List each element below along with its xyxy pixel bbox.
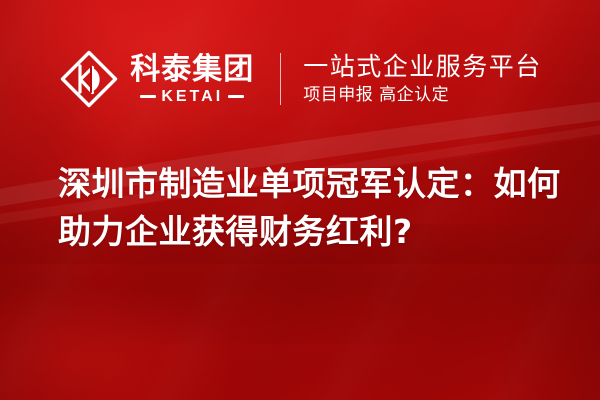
brand-wordmark: 科泰集团 KETAI — [130, 54, 254, 105]
brand-name-cn: 科泰集团 — [130, 54, 254, 86]
tagline-primary: 一站式企业服务平台 — [303, 52, 542, 81]
page-title-line-1: 深圳市制造业单项冠军认定：如何 — [58, 160, 558, 208]
page-title-line-2: 助力企业获得财务红利? — [58, 208, 558, 256]
dash-icon — [140, 95, 156, 98]
page-title: 深圳市制造业单项冠军认定：如何 助力企业获得财务红利? — [58, 160, 558, 256]
banner-header: 科泰集团 KETAI 一站式企业服务平台 项目申报 高企认定 — [0, 38, 600, 120]
brand-logo[interactable]: 科泰集团 KETAI — [58, 48, 254, 110]
brand-name-en-row: KETAI — [130, 88, 254, 105]
dash-icon — [228, 95, 244, 98]
tagline-secondary: 项目申报 高企认定 — [303, 84, 542, 106]
brand-tagline: 一站式企业服务平台 项目申报 高企认定 — [303, 52, 542, 106]
brand-name-en: KETAI — [161, 88, 223, 105]
promo-banner: 科泰集团 KETAI 一站式企业服务平台 项目申报 高企认定 深圳市制造业单项冠… — [0, 0, 600, 400]
ketai-diamond-kd-logo-icon — [58, 48, 120, 110]
vertical-divider-icon — [280, 53, 281, 105]
